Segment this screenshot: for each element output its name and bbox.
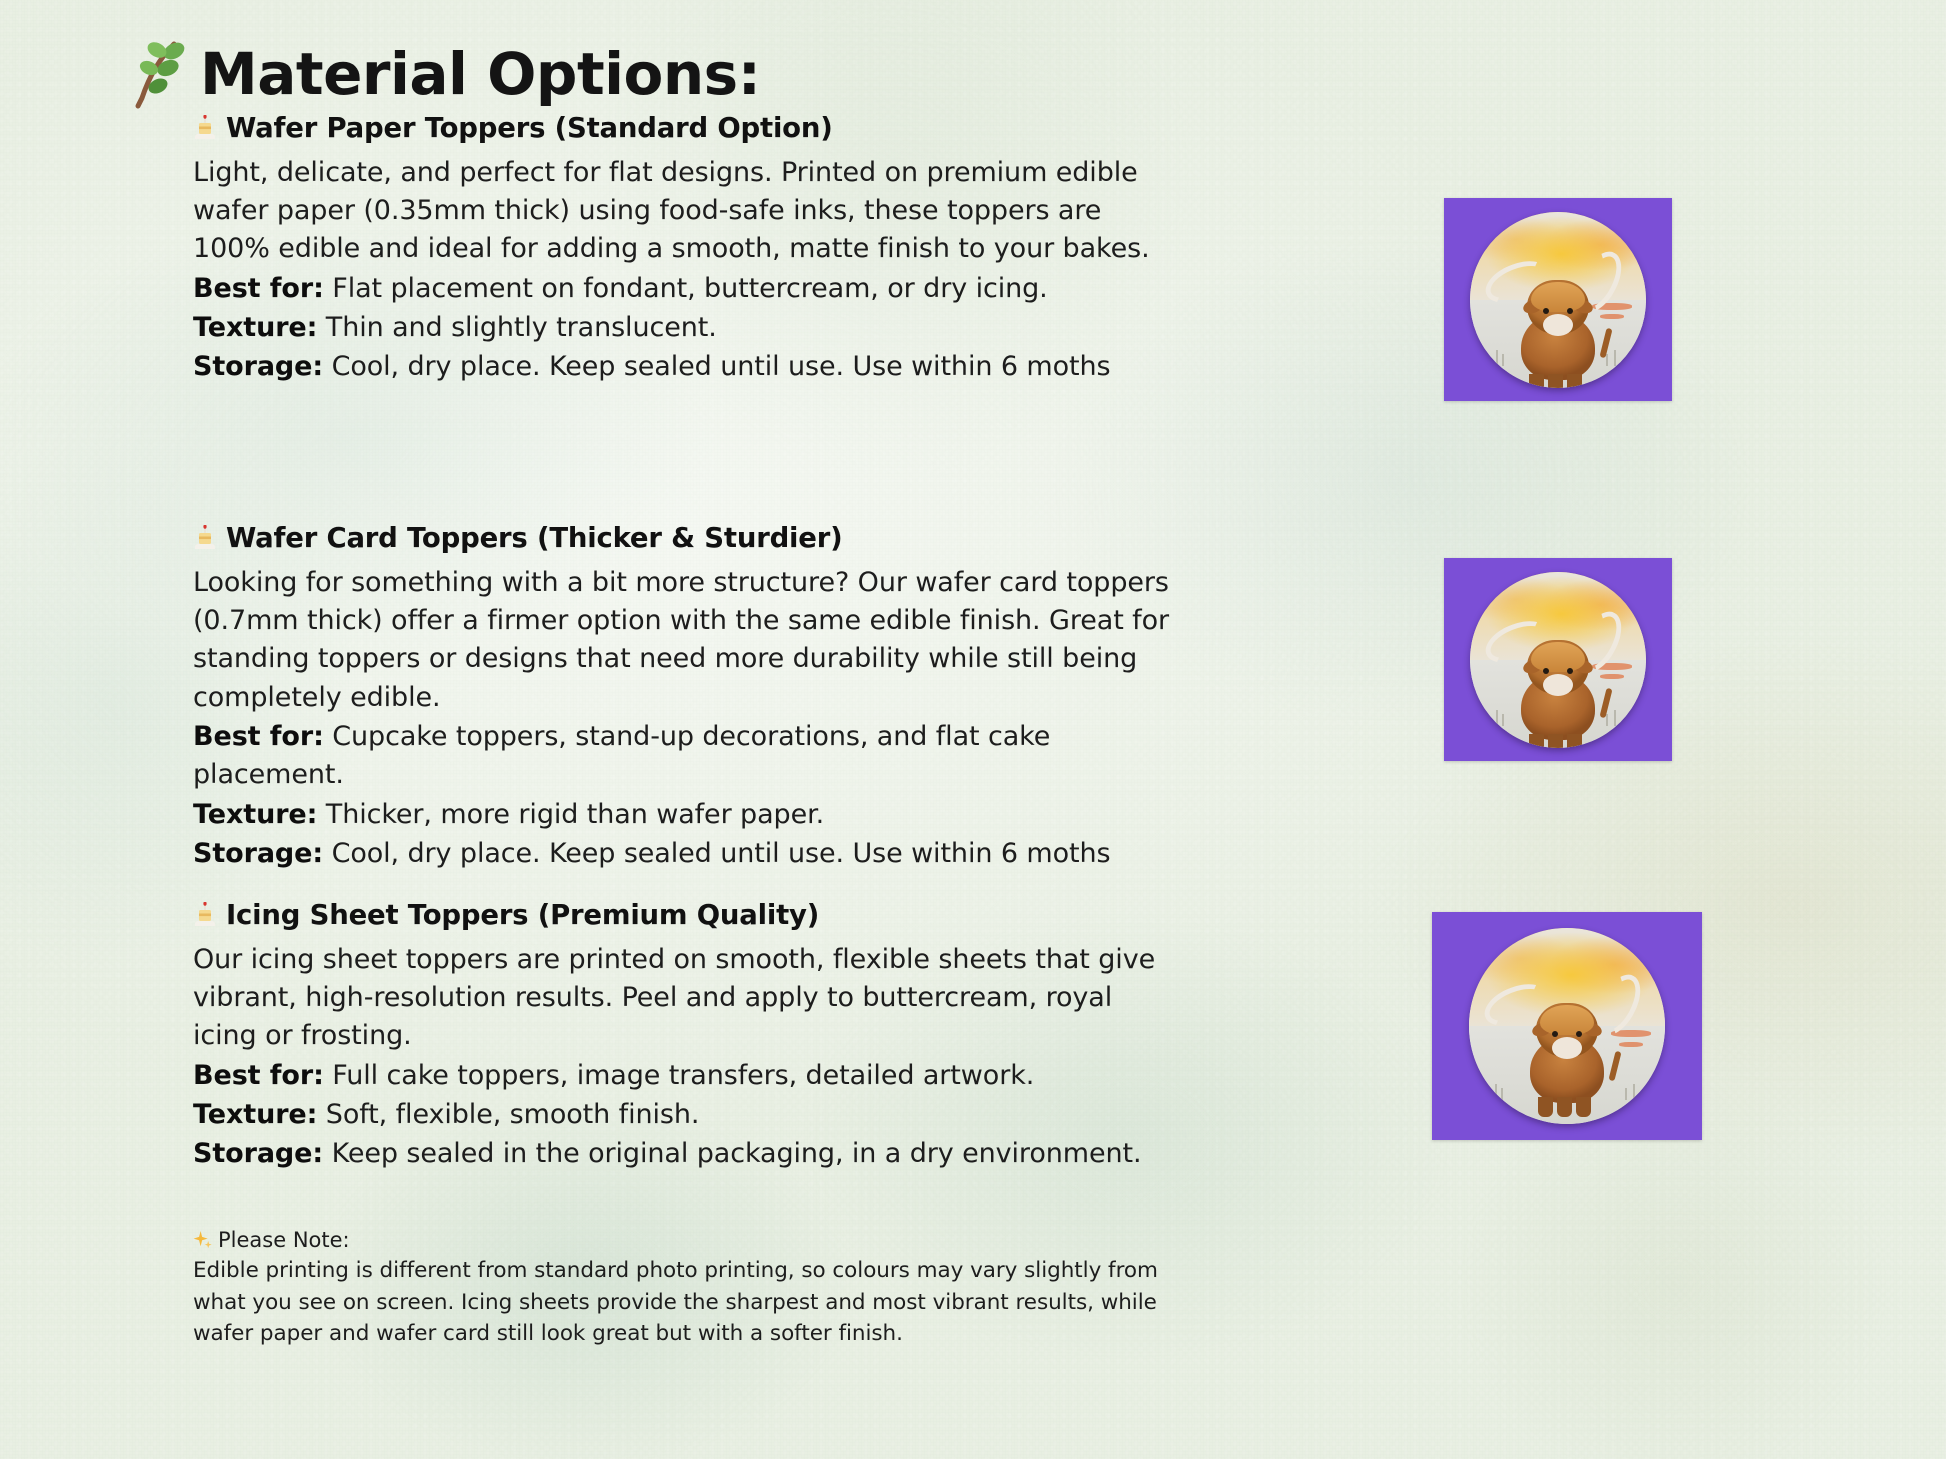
detail-value: Full cake toppers, image transfers, deta… [332,1060,1034,1091]
detail-value: Flat placement on fondant, buttercream, … [332,273,1047,304]
detail-label: Texture: [193,799,317,830]
section-detail-best-for: Best for: Cupcake toppers, stand-up deco… [193,718,1153,795]
section-paragraph: Light, delicate, and perfect for flat de… [193,154,1153,269]
detail-value: Cool, dry place. Keep sealed until use. … [332,838,1111,869]
section-icing-sheet: Icing Sheet Toppers (Premium Quality) Ou… [193,900,1183,1174]
section-heading-row: Wafer Card Toppers (Thicker & Sturdier) [193,523,1153,555]
detail-value: Cool, dry place. Keep sealed until use. … [332,351,1111,382]
page-title-row: Material Options: [128,38,760,110]
section-wafer-card: Wafer Card Toppers (Thicker & Sturdier) … [193,523,1153,873]
note-title-row: Please Note: [193,1228,1168,1252]
section-detail-texture: Texture: Thicker, more rigid than wafer … [193,796,1153,834]
section-detail-best-for: Best for: Full cake toppers, image trans… [193,1057,1183,1095]
detail-label: Best for: [193,721,324,752]
section-paragraph: Our icing sheet toppers are printed on s… [193,941,1183,1056]
section-detail-texture: Texture: Thin and slightly translucent. [193,309,1153,347]
section-wafer-paper: Wafer Paper Toppers (Standard Option) Li… [193,113,1153,387]
section-detail-storage: Storage: Cool, dry place. Keep sealed un… [193,835,1153,873]
detail-label: Texture: [193,1099,317,1130]
cake-slice-icon [193,902,217,930]
page-title: Material Options: [200,45,760,103]
section-detail-texture: Texture: Soft, flexible, smooth finish. [193,1096,1183,1134]
cow-topper-disc [1470,212,1646,388]
section-heading: Wafer Paper Toppers (Standard Option) [226,113,833,145]
section-detail-storage: Storage: Cool, dry place. Keep sealed un… [193,348,1153,386]
cow-topper-disc [1470,572,1646,748]
detail-label: Best for: [193,1060,324,1091]
detail-value: Thin and slightly translucent. [326,312,717,343]
section-heading-row: Wafer Paper Toppers (Standard Option) [193,113,1153,145]
detail-value: Thicker, more rigid than wafer paper. [326,799,824,830]
product-photo-wafer-paper [1444,198,1672,401]
section-heading: Wafer Card Toppers (Thicker & Sturdier) [226,523,842,555]
cake-slice-icon [193,115,217,143]
detail-label: Storage: [193,1138,323,1169]
detail-label: Best for: [193,273,324,304]
cake-slice-icon [193,525,217,553]
section-detail-best-for: Best for: Flat placement on fondant, but… [193,270,1153,308]
detail-value: Keep sealed in the original packaging, i… [332,1138,1142,1169]
herb-sprig-icon [128,38,190,110]
product-photo-icing-sheet [1432,912,1702,1140]
section-detail-storage: Storage: Keep sealed in the original pac… [193,1135,1183,1173]
sparkles-icon [193,1231,212,1250]
section-heading-row: Icing Sheet Toppers (Premium Quality) [193,900,1183,932]
detail-value: Soft, flexible, smooth finish. [326,1099,700,1130]
detail-label: Texture: [193,312,317,343]
please-note-block: Please Note: Edible printing is differen… [193,1228,1168,1350]
note-body: Edible printing is different from standa… [193,1255,1168,1350]
note-title: Please Note: [218,1228,350,1252]
detail-label: Storage: [193,838,323,869]
section-heading: Icing Sheet Toppers (Premium Quality) [226,900,819,932]
section-paragraph: Looking for something with a bit more st… [193,564,1193,717]
detail-label: Storage: [193,351,323,382]
product-photo-wafer-card [1444,558,1672,761]
cow-topper-disc [1469,928,1665,1124]
